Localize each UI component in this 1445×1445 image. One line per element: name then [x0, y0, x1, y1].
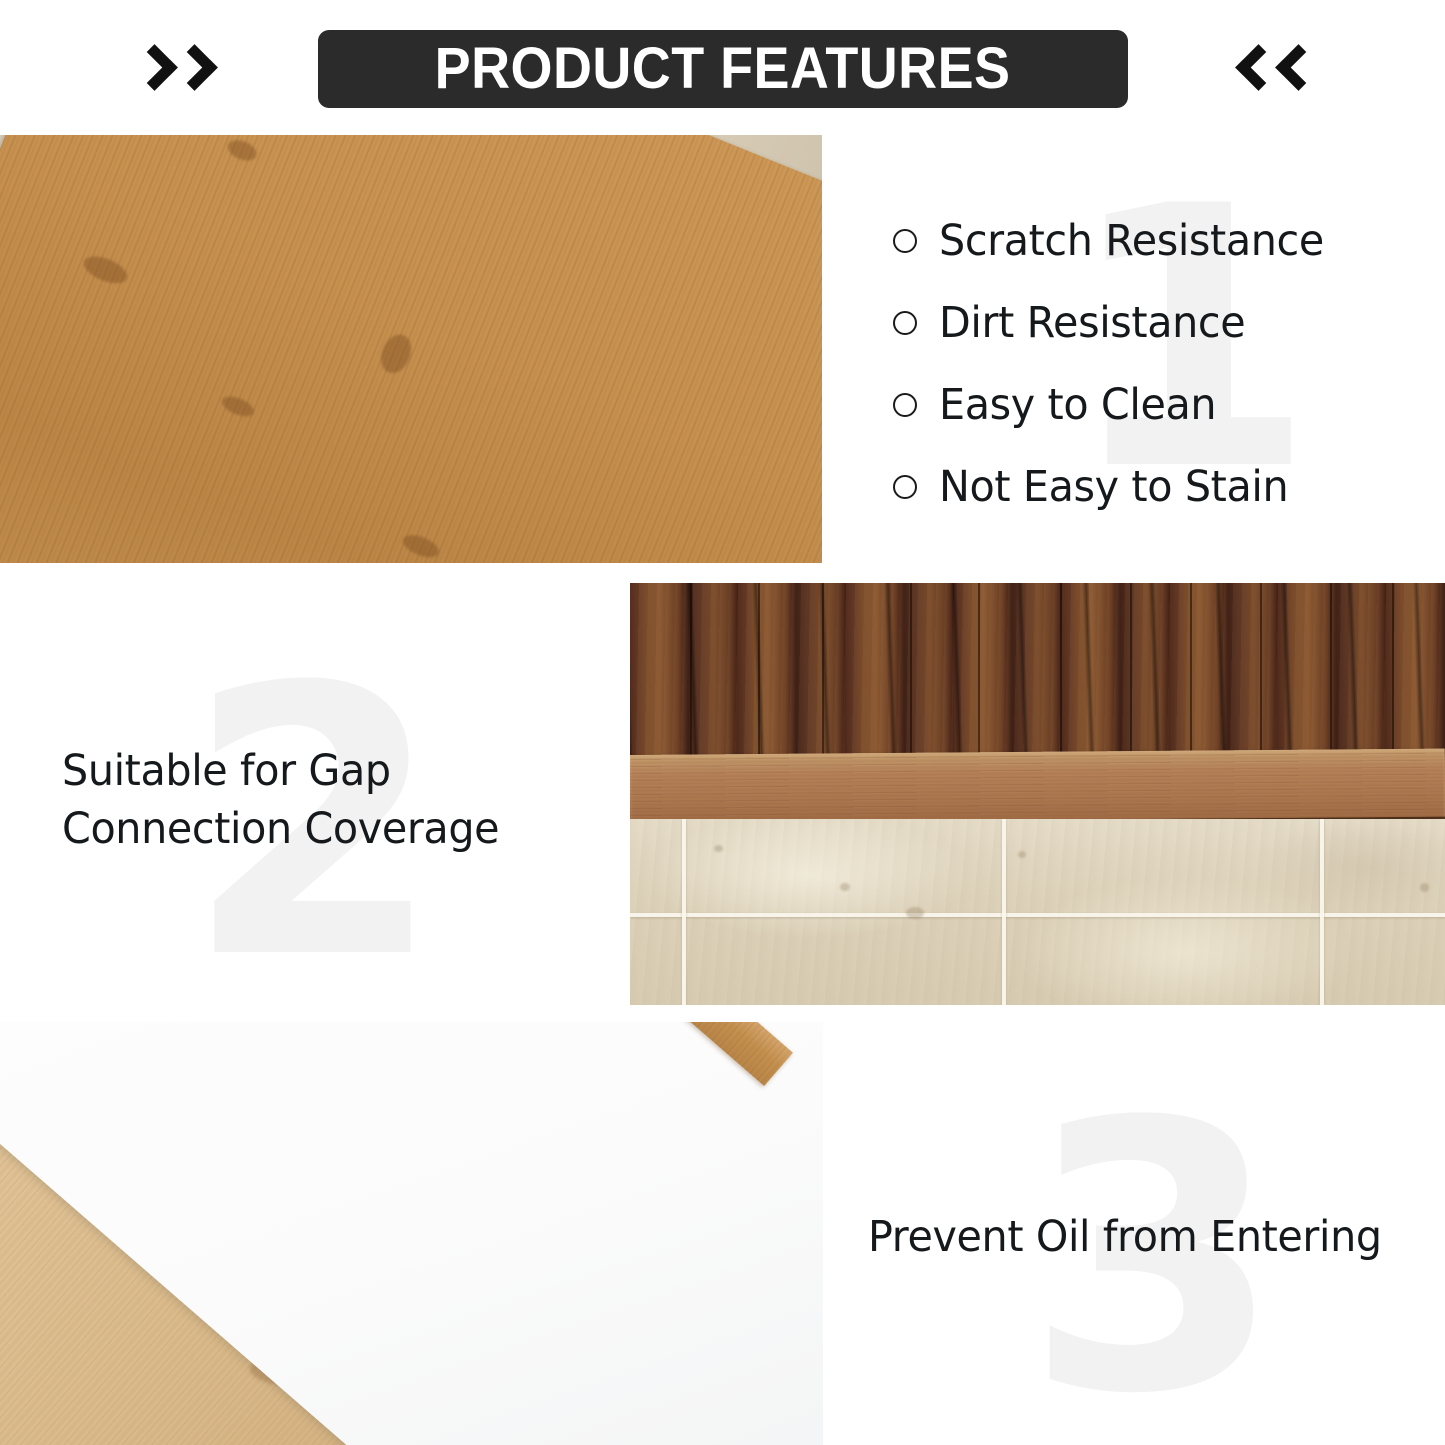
feature-photo-1 — [0, 135, 822, 563]
oak-transition-strip — [630, 749, 1445, 823]
plank-seam — [1060, 583, 1062, 757]
tile-grout-line — [682, 819, 686, 1005]
circle-bullet-icon — [893, 311, 917, 335]
wood-transition-plank — [0, 135, 822, 563]
tile-speck — [1420, 883, 1429, 892]
feature-list-item: Scratch Resistance — [893, 200, 1423, 282]
feature-photo-2 — [630, 583, 1445, 1005]
circle-bullet-icon — [893, 393, 917, 417]
plank-seam — [978, 583, 980, 757]
wood-knot — [376, 330, 417, 378]
plank-seam — [822, 583, 824, 757]
product-features-infographic: PRODUCT FEATURES 1 Scratch Re — [0, 0, 1445, 1445]
tile-grout-line — [1002, 819, 1006, 1005]
tile-speck — [714, 845, 723, 852]
feature-caption-3: Prevent Oil from Entering — [868, 1208, 1406, 1266]
wood-knot — [219, 393, 257, 421]
plank-seam — [1130, 583, 1132, 757]
tile-speck — [840, 883, 850, 891]
plank-seam — [690, 583, 692, 757]
double-chevron-right-icon — [136, 42, 206, 98]
feature-list-item: Easy to Clean — [893, 364, 1423, 446]
chevron-right-icon-1 — [136, 47, 166, 93]
plank-seam — [1330, 583, 1332, 757]
plank-seam — [758, 583, 760, 757]
feature-caption-2: Suitable for Gap Connection Coverage — [62, 742, 580, 858]
chevron-left-icon-1 — [1238, 47, 1268, 93]
tile-speck — [1018, 851, 1026, 858]
feature-photo-3 — [0, 1022, 823, 1445]
plank-seam — [1392, 583, 1394, 757]
tile-speck — [906, 907, 924, 919]
circle-bullet-icon — [893, 229, 917, 253]
feature-label: Dirt Resistance — [939, 298, 1245, 348]
feature-list: Scratch Resistance Dirt Resistance Easy … — [893, 200, 1423, 528]
feature-list-item: Not Easy to Stain — [893, 446, 1423, 528]
wood-knot — [225, 136, 260, 164]
feature-label: Scratch Resistance — [939, 216, 1324, 266]
page-title: PRODUCT FEATURES — [435, 40, 1011, 98]
plank-seam — [1190, 583, 1192, 757]
wood-knot — [400, 531, 442, 562]
dark-wood-planks — [630, 583, 1445, 757]
feature-caption-3-wrap: Prevent Oil from Entering — [868, 1208, 1428, 1266]
feature-caption-2-wrap: Suitable for Gap Connection Coverage — [62, 742, 602, 858]
chevron-left-icon-2 — [1278, 47, 1308, 93]
plank-seam — [910, 583, 912, 757]
chevron-right-icon-2 — [176, 47, 206, 93]
circle-bullet-icon — [893, 475, 917, 499]
tile-grout-line — [1320, 819, 1324, 1005]
feature-label: Easy to Clean — [939, 380, 1216, 430]
plank-seam — [1260, 583, 1262, 757]
feature-list-item: Dirt Resistance — [893, 282, 1423, 364]
feature-label: Not Easy to Stain — [939, 462, 1288, 512]
double-chevron-left-icon — [1238, 42, 1308, 98]
page-title-plate: PRODUCT FEATURES — [318, 30, 1128, 108]
wood-knot — [80, 251, 131, 289]
header-band: PRODUCT FEATURES — [0, 0, 1445, 135]
